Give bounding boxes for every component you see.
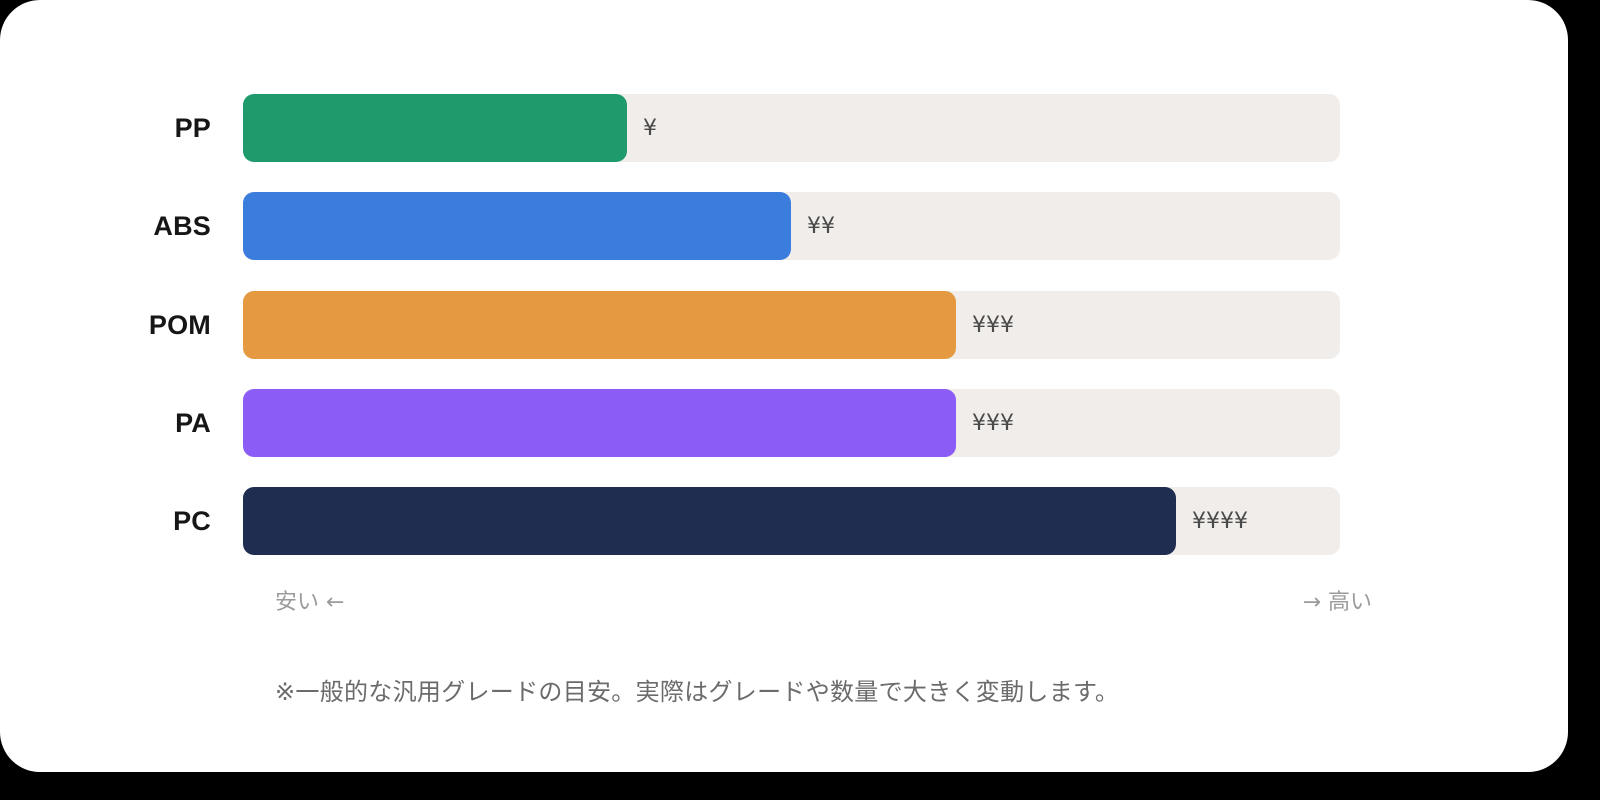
bar-pa (243, 389, 956, 457)
price-tier-label-pa: ¥¥¥ (972, 389, 1014, 457)
category-label-pom: POM (0, 312, 243, 339)
price-tier-label-pc: ¥¥¥¥ (1192, 487, 1248, 555)
category-label-pc: PC (0, 508, 243, 535)
price-scale-axis: 安い ← → 高い (275, 584, 1372, 616)
bar-pp (243, 94, 627, 162)
chart-footnote: ※一般的な汎用グレードの目安。実際はグレードや数量で大きく変動します。 (275, 672, 1119, 707)
price-tier-label-abs: ¥¥ (807, 192, 835, 260)
chart-row-pom: POM ¥¥¥ (0, 291, 1410, 359)
bar-track-abs: ¥¥ (243, 192, 1340, 260)
bar-track-pa: ¥¥¥ (243, 389, 1340, 457)
chart-row-pc: PC ¥¥¥¥ (0, 487, 1410, 555)
bar-pom (243, 291, 956, 359)
price-tier-label-pom: ¥¥¥ (972, 291, 1014, 359)
category-label-pa: PA (0, 410, 243, 437)
bar-track-pom: ¥¥¥ (243, 291, 1340, 359)
chart-row-pa: PA ¥¥¥ (0, 389, 1410, 457)
chart-row-abs: ABS ¥¥ (0, 192, 1410, 260)
chart-card: PP ¥ ABS ¥¥ POM ¥¥¥ PA ¥¥¥ (0, 0, 1568, 772)
category-label-pp: PP (0, 115, 243, 142)
price-comparison-chart: PP ¥ ABS ¥¥ POM ¥¥¥ PA ¥¥¥ (0, 0, 1568, 772)
bar-track-pp: ¥ (243, 94, 1340, 162)
scale-label-cheap: 安い ← (275, 584, 344, 616)
bar-track-pc: ¥¥¥¥ (243, 487, 1340, 555)
price-tier-label-pp: ¥ (643, 94, 657, 162)
chart-row-pp: PP ¥ (0, 94, 1410, 162)
scale-label-expensive: → 高い (1303, 584, 1372, 616)
category-label-abs: ABS (0, 213, 243, 240)
bar-abs (243, 192, 791, 260)
bar-pc (243, 487, 1176, 555)
